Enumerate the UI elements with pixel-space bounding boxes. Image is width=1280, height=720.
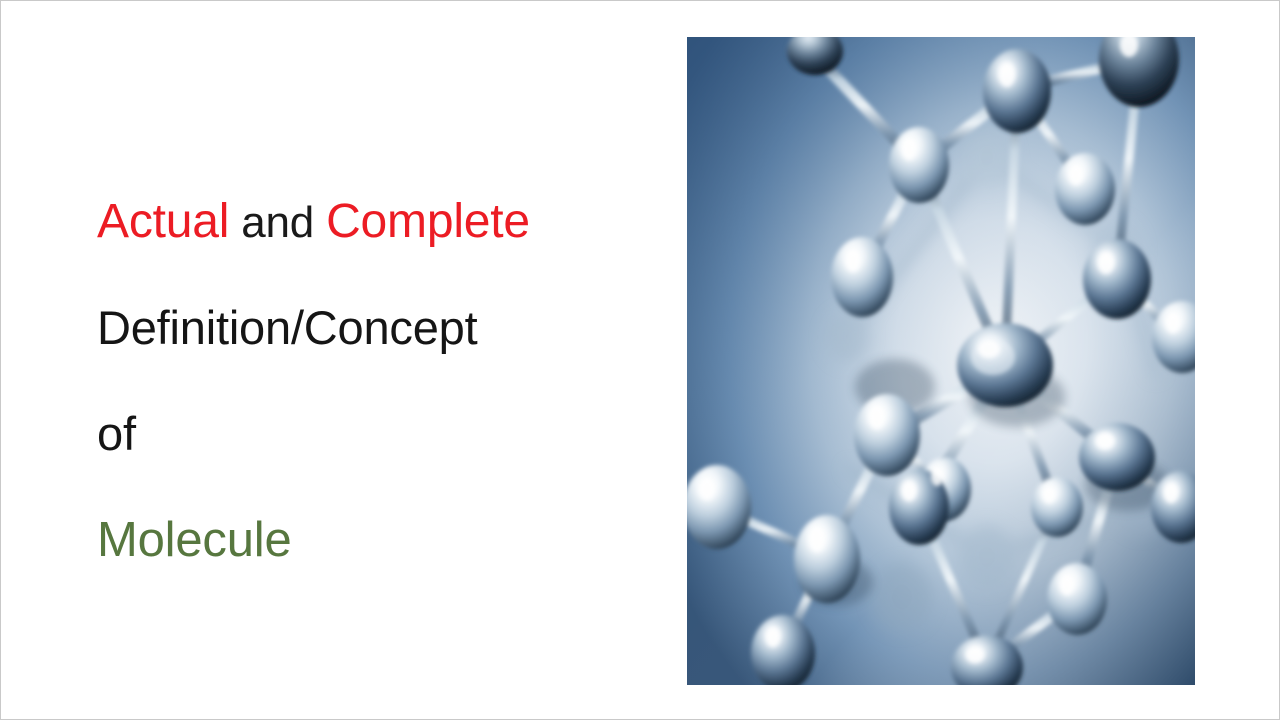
text-line-4-molecule: Molecule: [97, 487, 657, 593]
molecule-image: [687, 37, 1195, 685]
text-segment-actual: Actual: [97, 195, 229, 248]
text-line-3-of: of: [97, 381, 657, 487]
slide-text-block: Actual and Complete Definition/Concept o…: [97, 169, 657, 593]
text-line-1: Actual and Complete: [97, 169, 657, 275]
image-background-tint: [687, 37, 1195, 685]
text-segment-and: and: [229, 198, 326, 247]
molecule-illustration-svg: [687, 37, 1195, 685]
text-segment-complete: Complete: [326, 195, 530, 248]
presentation-slide: Actual and Complete Definition/Concept o…: [0, 0, 1280, 720]
text-line-2-definition-concept: Definition/Concept: [97, 275, 657, 381]
